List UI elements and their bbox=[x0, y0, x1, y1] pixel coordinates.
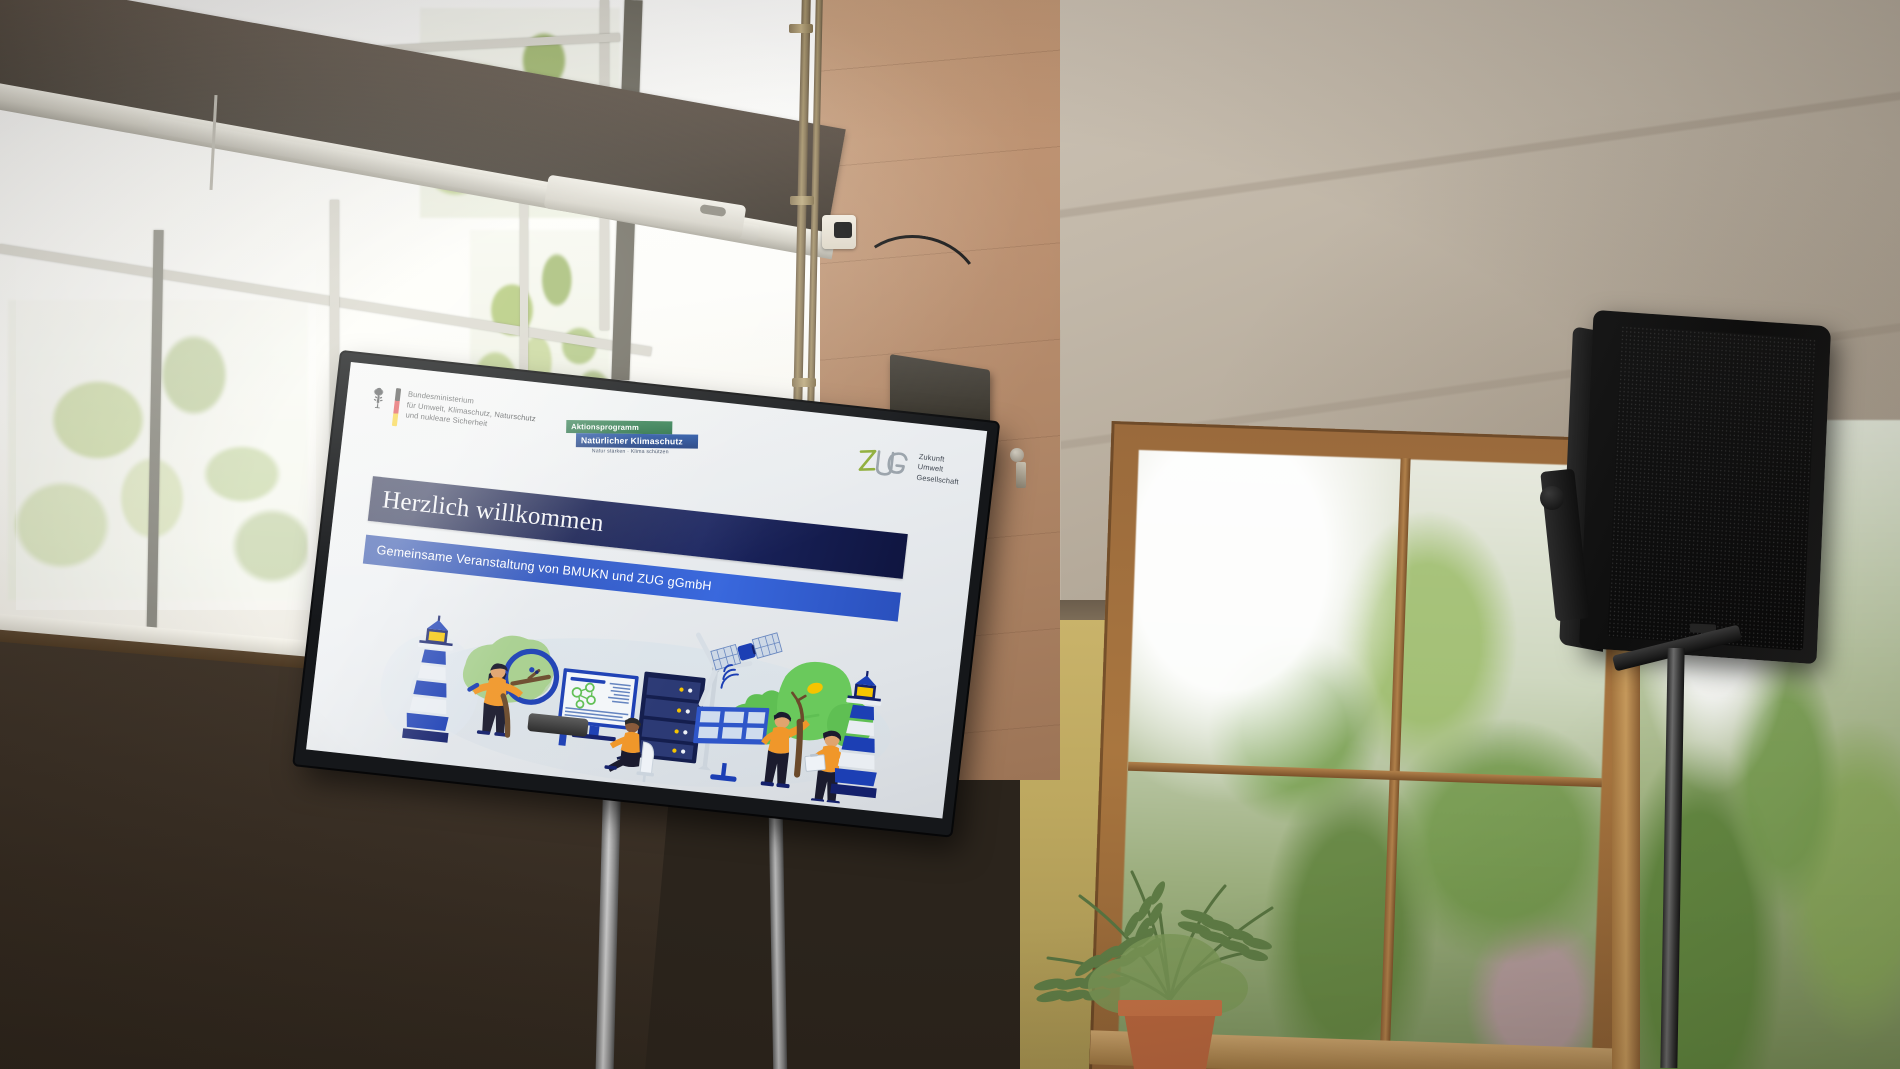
bracket-screw bbox=[1016, 462, 1026, 488]
zug-logo: Zukunft Umwelt Gesellschaft bbox=[852, 443, 962, 488]
power-plug bbox=[834, 222, 852, 238]
aktionsprogramm-badge: Aktionsprogramm Natürlicher Klimaschutz … bbox=[566, 420, 699, 456]
pa-speaker-adjust-knob[interactable] bbox=[1540, 486, 1564, 510]
badge-line-2: Natürlicher Klimaschutz bbox=[576, 433, 698, 448]
potted-fern bbox=[1020, 700, 1320, 1069]
ministry-logo: Bundesministerium für Umwelt, Klimaschut… bbox=[366, 386, 537, 442]
terracotta-pot bbox=[1124, 1012, 1216, 1069]
pipe-clamp bbox=[789, 24, 813, 33]
pipe-clamp bbox=[790, 196, 814, 205]
pipe-clamp bbox=[792, 378, 816, 387]
presentation-slide: Bundesministerium für Umwelt, Klimaschut… bbox=[306, 362, 987, 819]
window-pane bbox=[16, 250, 316, 610]
zug-logo-text: Zukunft Umwelt Gesellschaft bbox=[916, 451, 962, 487]
flat-screen-tv[interactable]: Bundesministerium für Umwelt, Klimaschut… bbox=[294, 352, 998, 836]
badge-tagline: Natur stärken · Klima schützen bbox=[592, 448, 698, 455]
slide-title: Herzlich willkommen bbox=[369, 485, 605, 538]
badge-line-1: Aktionsprogramm bbox=[566, 420, 673, 434]
room-scene: Bundesministerium für Umwelt, Klimaschut… bbox=[0, 0, 1900, 1069]
bundesadler-icon bbox=[368, 386, 390, 411]
ministry-logo-text: Bundesministerium für Umwelt, Klimaschut… bbox=[405, 390, 538, 435]
pa-speaker-grille bbox=[1607, 325, 1816, 650]
tv-screen: Bundesministerium für Umwelt, Klimaschut… bbox=[306, 362, 987, 819]
bracket-screw bbox=[1010, 448, 1024, 462]
german-flag-bar bbox=[392, 388, 401, 426]
zug-monogram-icon bbox=[852, 443, 912, 483]
